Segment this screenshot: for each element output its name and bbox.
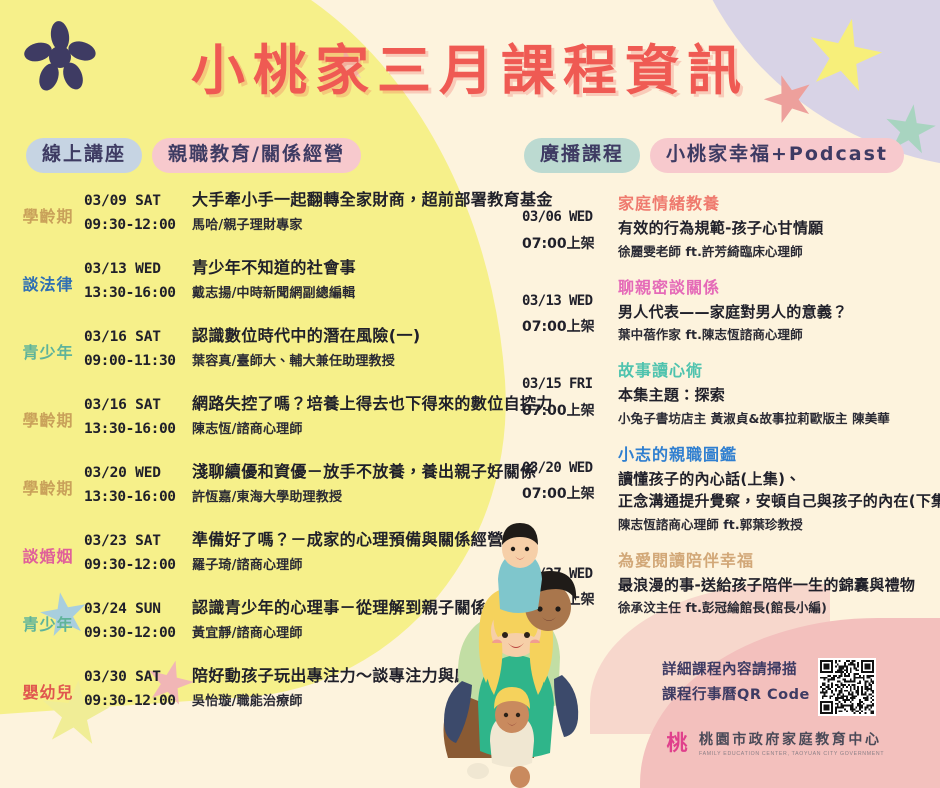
- course-date: 03/09 SAT: [84, 193, 192, 209]
- course-date: 03/24 SUN: [84, 601, 192, 617]
- qr-instruction-line1: 詳細課程內容請掃描: [662, 658, 810, 683]
- episode-title: 有效的行為規範-孩子心甘情願: [618, 217, 940, 240]
- episode-speaker: 徐麗雯老師 ft.許芳綺臨床心理師: [618, 241, 940, 260]
- course-time: 13:30-16:00: [84, 285, 192, 301]
- course-row: 青少年03/16 SAT認識數位時代中的潛在風險(一)09:00-11:30葉容…: [16, 322, 516, 380]
- peach-logo-icon: 桃: [662, 728, 692, 758]
- episode-title-line2: 正念溝通提升覺察，安頓自己與孩子的內在(下集): [618, 490, 940, 513]
- left-topic-pill: 親職教育/關係經營: [152, 138, 361, 173]
- organization-name-cn: 桃園市政府家庭教育中心: [699, 729, 884, 749]
- course-title: 網路失控了嗎？培養上得去也下得來的數位自控力: [192, 390, 553, 414]
- course-speaker: 陳志恆/諮商心理師: [192, 418, 303, 437]
- episode-title: 最浪漫的事-送給孩子陪伴一生的錦囊與禮物: [618, 574, 940, 597]
- course-date: 03/13 WED: [84, 261, 192, 277]
- course-date: 03/16 SAT: [84, 329, 192, 345]
- episode-series-title: 聊親密談關係: [618, 274, 940, 298]
- course-speaker: 吳怡璇/職能治療師: [192, 690, 303, 709]
- course-title: 青少年不知道的社會事: [192, 254, 356, 278]
- course-title: 大手牽小手一起翻轉全家財商，超前部署教育基金: [192, 186, 553, 210]
- episode-title: 讀懂孩子的內心話(上集)、: [618, 468, 940, 491]
- podcast-row: 03/15 FRI07:00上架故事讀心術本集主題：探索小兔子書坊店主 黃淑貞&…: [522, 357, 940, 427]
- episode-speaker: 徐承汶主任 ft.彭冠綸館長(館長小編): [618, 597, 940, 616]
- episode-title: 男人代表——家庭對男人的意義？: [618, 301, 940, 324]
- footer: 詳細課程內容請掃描 課程行事曆QR Code 桃 桃園市政府家庭教育中心 FAM…: [662, 658, 922, 758]
- course-audience-tag: 學齡期: [16, 186, 80, 227]
- course-title: 淺聊續優和資優－放手不放養，養出親子好關係: [192, 458, 536, 482]
- episode-series-title: 家庭情緒教養: [618, 190, 940, 214]
- course-date: 03/23 SAT: [84, 533, 192, 549]
- episode-speaker: 小兔子書坊店主 黃淑貞&故事拉莉歐版主 陳美華: [618, 408, 940, 427]
- family-illustration: [420, 503, 610, 788]
- qr-instruction-line2: 課程行事曆QR Code: [662, 683, 810, 708]
- course-audience-tag: 談婚姻: [16, 526, 80, 567]
- episode-release-time: 07:00上架: [522, 398, 618, 425]
- episode-speaker: 葉中蓓作家 ft.陳志恆諮商心理師: [618, 324, 940, 343]
- organization-name-en: FAMILY EDUCATION CENTER, TAOYUAN CITY GO…: [699, 751, 884, 757]
- episode-series-title: 小志的親職圖鑑: [618, 441, 940, 465]
- episode-date: 03/13 WED: [522, 288, 618, 315]
- right-topic-pill: 小桃家幸福+Podcast: [650, 138, 904, 173]
- episode-date: 03/15 FRI: [522, 371, 618, 398]
- course-row: 學齡期03/09 SAT大手牽小手一起翻轉全家財商，超前部署教育基金09:30-…: [16, 186, 516, 244]
- course-speaker: 許恆嘉/東海大學助理教授: [192, 486, 342, 505]
- episode-title: 本集主題：探索: [618, 384, 940, 407]
- course-speaker: 黃宜靜/諮商心理師: [192, 622, 303, 641]
- course-time: 13:30-16:00: [84, 489, 192, 505]
- episode-date: 03/20 WED: [522, 455, 618, 482]
- episode-date: 03/06 WED: [522, 204, 618, 231]
- course-date: 03/20 WED: [84, 465, 192, 481]
- poster-canvas: 小桃家三月課程資訊 線上講座 親職教育/關係經營 廣播課程 小桃家幸福+Podc…: [0, 0, 940, 788]
- course-audience-tag: 青少年: [16, 322, 80, 363]
- episode-series-title: 為愛閱讀陪伴幸福: [618, 547, 940, 571]
- course-time: 09:30-12:00: [84, 693, 192, 709]
- course-time: 13:30-16:00: [84, 421, 192, 437]
- course-speaker: 馬哈/親子理財專家: [192, 214, 303, 233]
- episode-release-time: 07:00上架: [522, 231, 618, 258]
- podcast-row: 03/06 WED07:00上架家庭情緒教養有效的行為規範-孩子心甘情願徐麗雯老…: [522, 190, 940, 260]
- course-speaker: 羅子琦/諮商心理師: [192, 554, 303, 573]
- course-audience-tag: 青少年: [16, 594, 80, 635]
- course-time: 09:30-12:00: [84, 557, 192, 573]
- left-section-header: 線上講座 親職教育/關係經營: [26, 138, 361, 173]
- course-time: 09:30-12:00: [84, 625, 192, 641]
- course-row: 談法律03/13 WED青少年不知道的社會事13:30-16:00戴志揚/中時新…: [16, 254, 516, 312]
- course-audience-tag: 談法律: [16, 254, 80, 295]
- right-kind-pill: 廣播課程: [524, 138, 640, 173]
- episode-series-title: 故事讀心術: [618, 357, 940, 381]
- episode-release-time: 07:00上架: [522, 314, 618, 341]
- podcast-row: 03/13 WED07:00上架聊親密談關係男人代表——家庭對男人的意義？葉中蓓…: [522, 274, 940, 344]
- course-row: 學齡期03/16 SAT網路失控了嗎？培養上得去也下得來的數位自控力13:30-…: [16, 390, 516, 448]
- right-section-header: 廣播課程 小桃家幸福+Podcast: [524, 138, 904, 173]
- organization-logo: 桃 桃園市政府家庭教育中心 FAMILY EDUCATION CENTER, T…: [662, 728, 922, 758]
- course-date: 03/30 SAT: [84, 669, 192, 685]
- course-date: 03/16 SAT: [84, 397, 192, 413]
- course-speaker: 戴志揚/中時新聞網副總編輯: [192, 282, 355, 301]
- course-audience-tag: 嬰幼兒: [16, 662, 80, 703]
- course-speaker: 葉容真/臺師大、輔大兼任助理教授: [192, 350, 395, 369]
- course-audience-tag: 學齡期: [16, 458, 80, 499]
- page-title: 小桃家三月課程資訊: [0, 26, 940, 105]
- course-title: 認識數位時代中的潛在風險(一): [192, 322, 421, 346]
- qr-code[interactable]: [818, 658, 876, 716]
- course-time: 09:00-11:30: [84, 353, 192, 369]
- left-kind-pill: 線上講座: [26, 138, 142, 173]
- qr-instruction-text: 詳細課程內容請掃描 課程行事曆QR Code: [662, 658, 810, 707]
- episode-speaker: 陳志恆諮商心理師 ft.郭葉珍教授: [618, 514, 940, 533]
- course-time: 09:30-12:00: [84, 217, 192, 233]
- course-audience-tag: 學齡期: [16, 390, 80, 431]
